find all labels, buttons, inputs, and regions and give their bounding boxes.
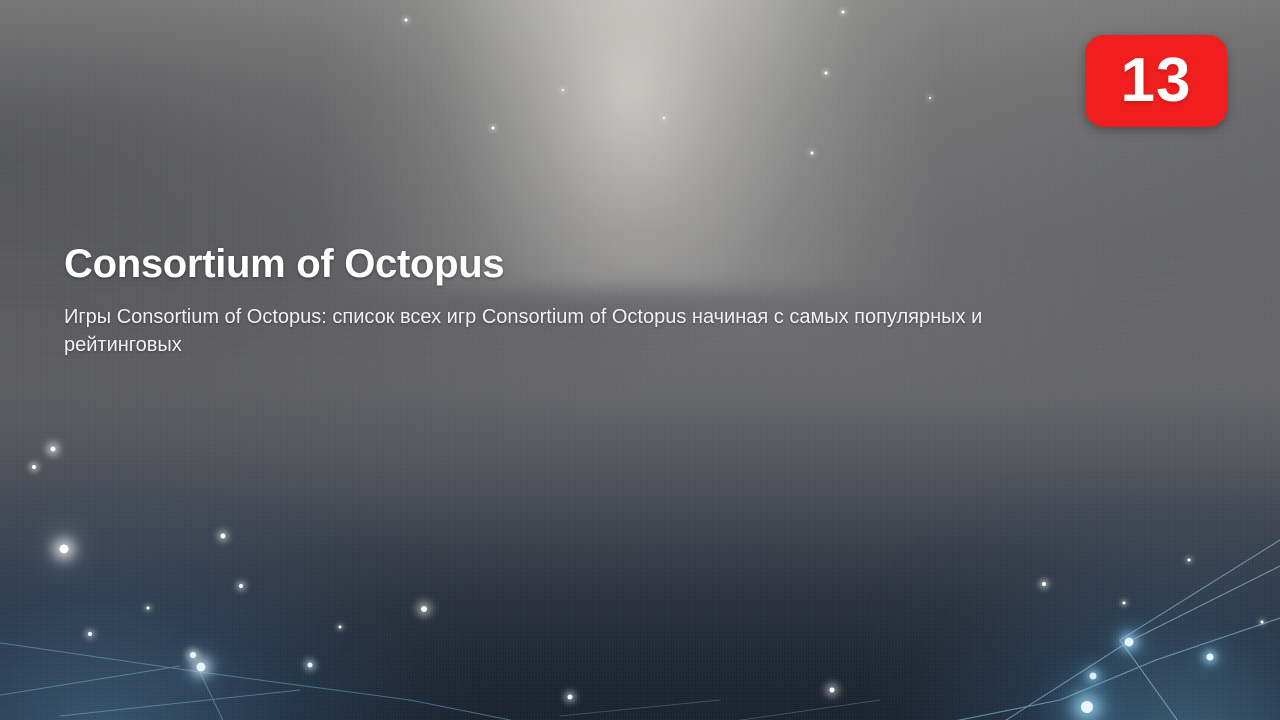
- hero-content: Consortium of Octopus Игры Consortium of…: [64, 244, 1024, 359]
- rank-badge: 13: [1085, 35, 1227, 127]
- rank-badge-value: 13: [1121, 50, 1192, 112]
- page-title: Consortium of Octopus: [64, 244, 1024, 284]
- page-description: Игры Consortium of Octopus: список всех …: [64, 284, 1016, 359]
- hero-banner: Consortium of Octopus Игры Consortium of…: [0, 0, 1280, 720]
